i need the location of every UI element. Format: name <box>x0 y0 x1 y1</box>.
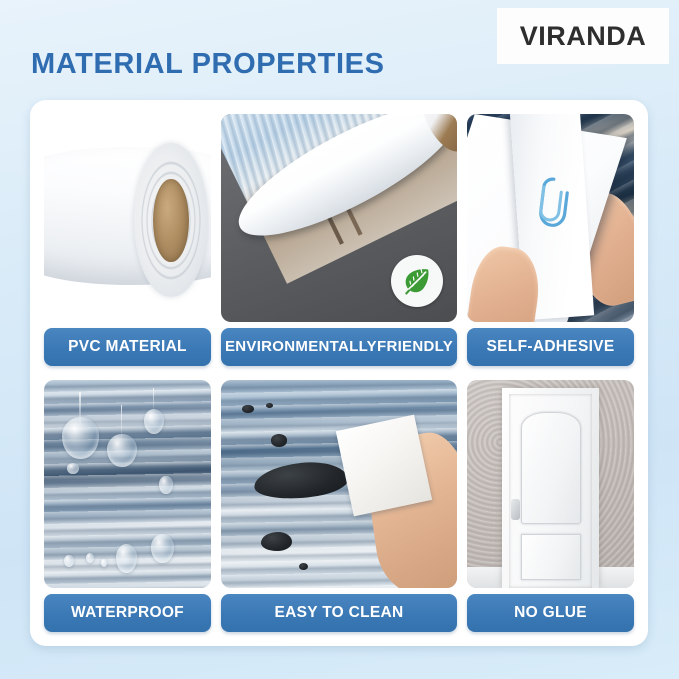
door-panel-upper <box>521 412 581 524</box>
paperclip-icon <box>531 175 571 231</box>
feature-label-waterproof: WATERPROOF <box>44 594 211 632</box>
feature-card: PVC MATERIAL <box>30 100 648 646</box>
easy-to-clean-image <box>221 380 457 588</box>
feature-cell-pvc-material[interactable]: PVC MATERIAL <box>44 114 211 366</box>
brand-logo-box: VIRANDA <box>497 8 669 64</box>
door-panel-lower <box>521 534 581 580</box>
leaf-badge-icon <box>391 255 443 307</box>
pvc-roll-image <box>44 114 211 322</box>
ink-spot <box>261 532 292 551</box>
feature-cell-no-glue[interactable]: NO GLUE <box>467 380 634 632</box>
ink-spot <box>271 434 288 446</box>
door-slab <box>509 394 592 588</box>
feature-label-no-glue: NO GLUE <box>467 594 634 632</box>
brand-name: VIRANDA <box>520 21 647 52</box>
ink-spot <box>266 403 273 408</box>
label-line-2: FRIENDLY <box>377 339 453 355</box>
feature-cell-waterproof[interactable]: WATERPROOF <box>44 380 211 632</box>
feature-grid: PVC MATERIAL <box>44 114 634 632</box>
feature-label-self-adhesive: SELF-ADHESIVE <box>467 328 634 366</box>
page-title: MATERIAL PROPERTIES <box>31 48 385 81</box>
waterproof-image <box>44 380 211 588</box>
water-droplet <box>159 476 172 495</box>
door-handle-icon <box>511 499 520 520</box>
header: VIRANDA MATERIAL PROPERTIES <box>0 0 679 100</box>
pvc-roll-core <box>153 179 188 262</box>
water-droplet <box>67 463 79 473</box>
feature-cell-self-adhesive[interactable]: SELF-ADHESIVE <box>467 114 634 366</box>
eco-wallpaper-image <box>221 114 457 322</box>
water-droplet <box>86 553 94 563</box>
feature-label-pvc-material: PVC MATERIAL <box>44 328 211 366</box>
label-line-1: ENVIRONMENTALLY <box>225 339 377 355</box>
pvc-roll-face <box>134 143 207 297</box>
no-glue-image <box>467 380 634 588</box>
feature-cell-environmentally-friendly[interactable]: ENVIRONMENTALLY FRIENDLY <box>221 114 457 366</box>
door-frame <box>502 388 599 588</box>
feature-label-environmentally-friendly: ENVIRONMENTALLY FRIENDLY <box>221 328 457 366</box>
self-adhesive-image <box>467 114 634 322</box>
feature-label-easy-to-clean: EASY TO CLEAN <box>221 594 457 632</box>
feature-cell-easy-to-clean[interactable]: EASY TO CLEAN <box>221 380 457 632</box>
